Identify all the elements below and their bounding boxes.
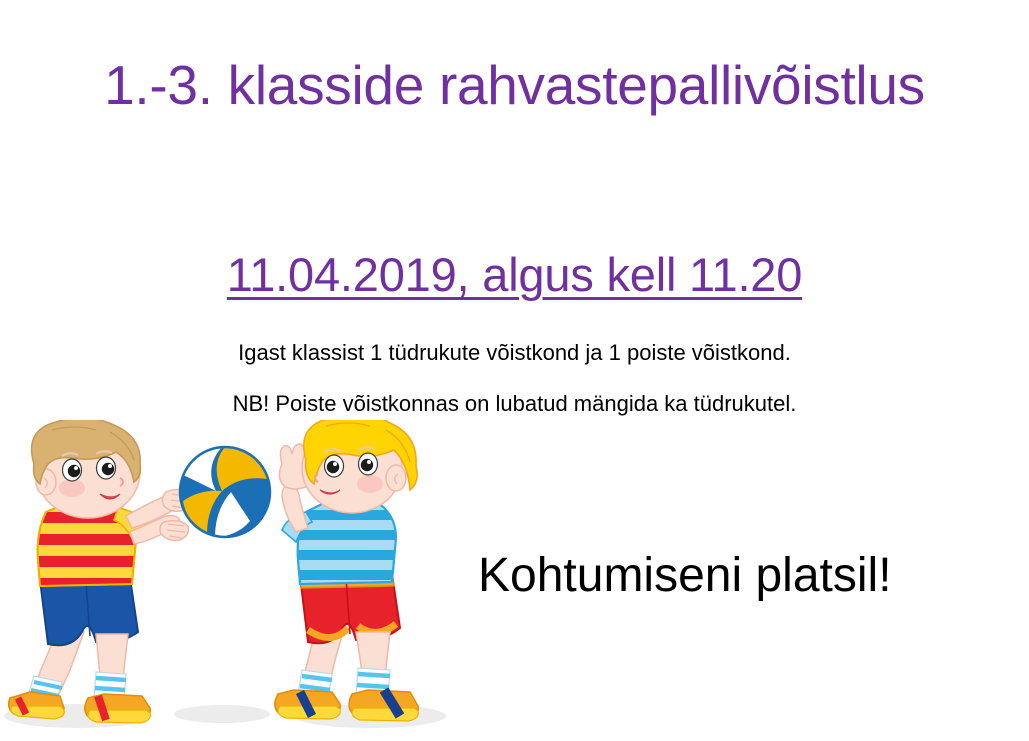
shadow-ball [174,705,270,723]
event-datetime-line: 11.04.2019, algus kell 11.20 [0,250,1029,299]
right-boy-ear [386,465,406,491]
right-boy-cheek [357,475,383,493]
note-girls-allowed: NB! Poiste võistkonnas on lubatud mängid… [0,391,1029,417]
note-team-composition: Igast klassist 1 tüdrukute võistkond ja … [0,340,1029,366]
page-title: 1.-3. klasside rahvastepallivõistlus [0,57,1029,115]
volleyball [180,447,270,537]
poster-canvas: 1.-3. klasside rahvastepallivõistlus 11.… [0,0,1029,741]
boy-yellow-hair [275,420,418,721]
left-boy-cheek [59,479,85,497]
boy-brown-hair [9,420,191,723]
closing-message: Kohtumiseni platsil! [478,548,892,603]
illustration-group [0,420,520,741]
event-datetime: 11.04.2019, algus kell 11.20 [227,248,802,301]
